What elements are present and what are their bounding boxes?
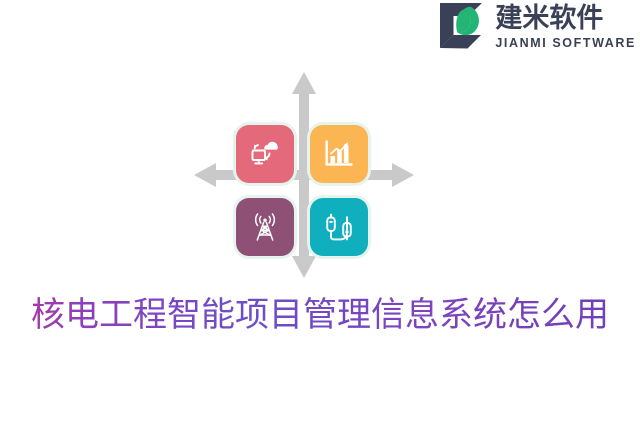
antenna-tower-signal-icon	[249, 211, 281, 243]
usb-connector-cable-icon	[324, 211, 354, 243]
cloud-sync-monitor-icon	[248, 137, 282, 171]
jianmi-leaf-logo-icon	[437, 2, 489, 52]
bar-chart-growth-icon	[324, 139, 354, 169]
page-title: 核电工程智能项目管理信息系统怎么用	[0, 293, 640, 337]
tile-cloud-sync[interactable]	[236, 125, 294, 183]
brand-logo: 建米软件 JIANMI SOFTWARE	[437, 2, 636, 52]
brand-name-cn: 建米软件	[495, 5, 603, 32]
page-root: 建米软件 JIANMI SOFTWARE	[0, 0, 640, 427]
tile-usb-connectors[interactable]	[310, 198, 368, 256]
brand-name-en: JIANMI SOFTWARE	[495, 37, 636, 50]
tile-antenna-tower[interactable]	[236, 198, 294, 256]
brand-text-block: 建米软件 JIANMI SOFTWARE	[495, 5, 636, 50]
quadrant-diagram	[192, 72, 416, 278]
four-direction-arrow-cross-icon	[192, 72, 416, 278]
tile-bar-chart[interactable]	[310, 125, 368, 183]
